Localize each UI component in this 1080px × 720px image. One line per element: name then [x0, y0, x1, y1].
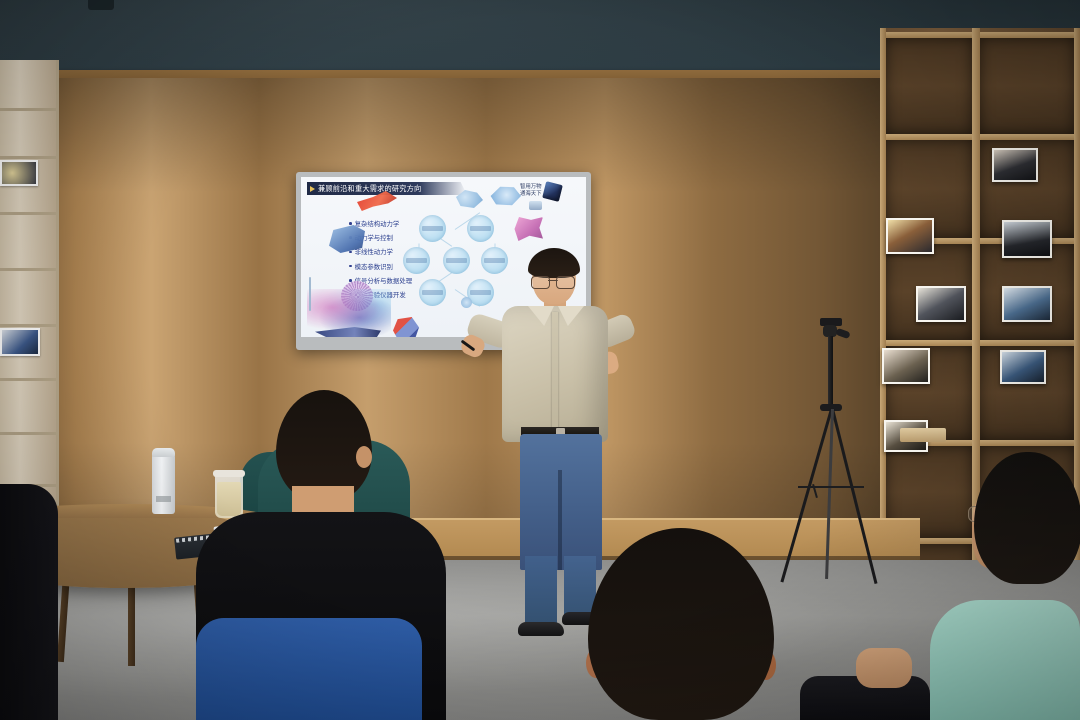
audience-left-edge	[0, 484, 58, 720]
presenter-shirt-placket	[552, 312, 558, 438]
tripod-brace	[798, 486, 864, 488]
glasses-icon	[531, 276, 575, 287]
small-icon-image	[529, 201, 542, 210]
cup-contents	[217, 482, 241, 516]
shelf-photo	[1002, 286, 1052, 322]
antenna-line-image	[309, 277, 311, 311]
stress-model-image	[393, 317, 419, 337]
triangle-bullet-icon	[310, 186, 315, 192]
logo-text: 智用万物 通海天下	[520, 184, 542, 198]
thermos-label	[156, 496, 171, 502]
camera-tripod	[790, 318, 900, 588]
logo-line-2: 通海天下	[520, 191, 542, 198]
mesh-model-image	[513, 217, 543, 241]
thermos-cap	[152, 448, 175, 457]
audience-mint-head	[974, 452, 1080, 584]
shelf-photo	[992, 148, 1038, 182]
thermos-flask	[152, 452, 175, 514]
audience-mint-shirt	[930, 600, 1080, 720]
slide-title-text: 兼顾前沿和重大需求的研究方向	[318, 184, 421, 194]
shelf-photo	[1002, 220, 1052, 258]
shelf-photo	[0, 328, 40, 356]
structure-simulation-image	[489, 185, 521, 207]
shelf-photo	[886, 218, 934, 254]
cup-lid	[213, 470, 245, 477]
tripod-column	[828, 336, 833, 406]
lecture-room-photo: 兼顾前沿和重大需求的研究方向 智用万物 通海天下 复杂结构动力学 动力学与控制 …	[0, 0, 1080, 720]
table-leg	[128, 576, 135, 666]
presenter-leg-seam	[558, 470, 562, 570]
ceiling-fixture	[88, 0, 114, 10]
small-node-image	[461, 297, 472, 308]
presenter-left-shoe	[518, 622, 564, 636]
logo-mark-icon	[542, 181, 563, 202]
shelf-photo	[0, 160, 38, 186]
shelf-storage-box	[900, 428, 946, 442]
blue-chair	[196, 618, 422, 720]
tripod-knob	[835, 328, 851, 339]
shelf-photo	[1000, 350, 1046, 384]
shelf-photo	[916, 286, 966, 322]
tripod-leg	[831, 409, 877, 584]
presenter-left-leg	[525, 556, 557, 628]
audience-ear	[356, 446, 372, 468]
hex-network-diagram	[405, 213, 509, 309]
organization-logo: 智用万物 通海天下	[520, 180, 582, 202]
left-shelf-unit	[0, 60, 59, 530]
tripod-leg	[825, 409, 834, 579]
logo-line-1: 智用万物	[520, 184, 542, 191]
audience-hand	[856, 648, 912, 688]
